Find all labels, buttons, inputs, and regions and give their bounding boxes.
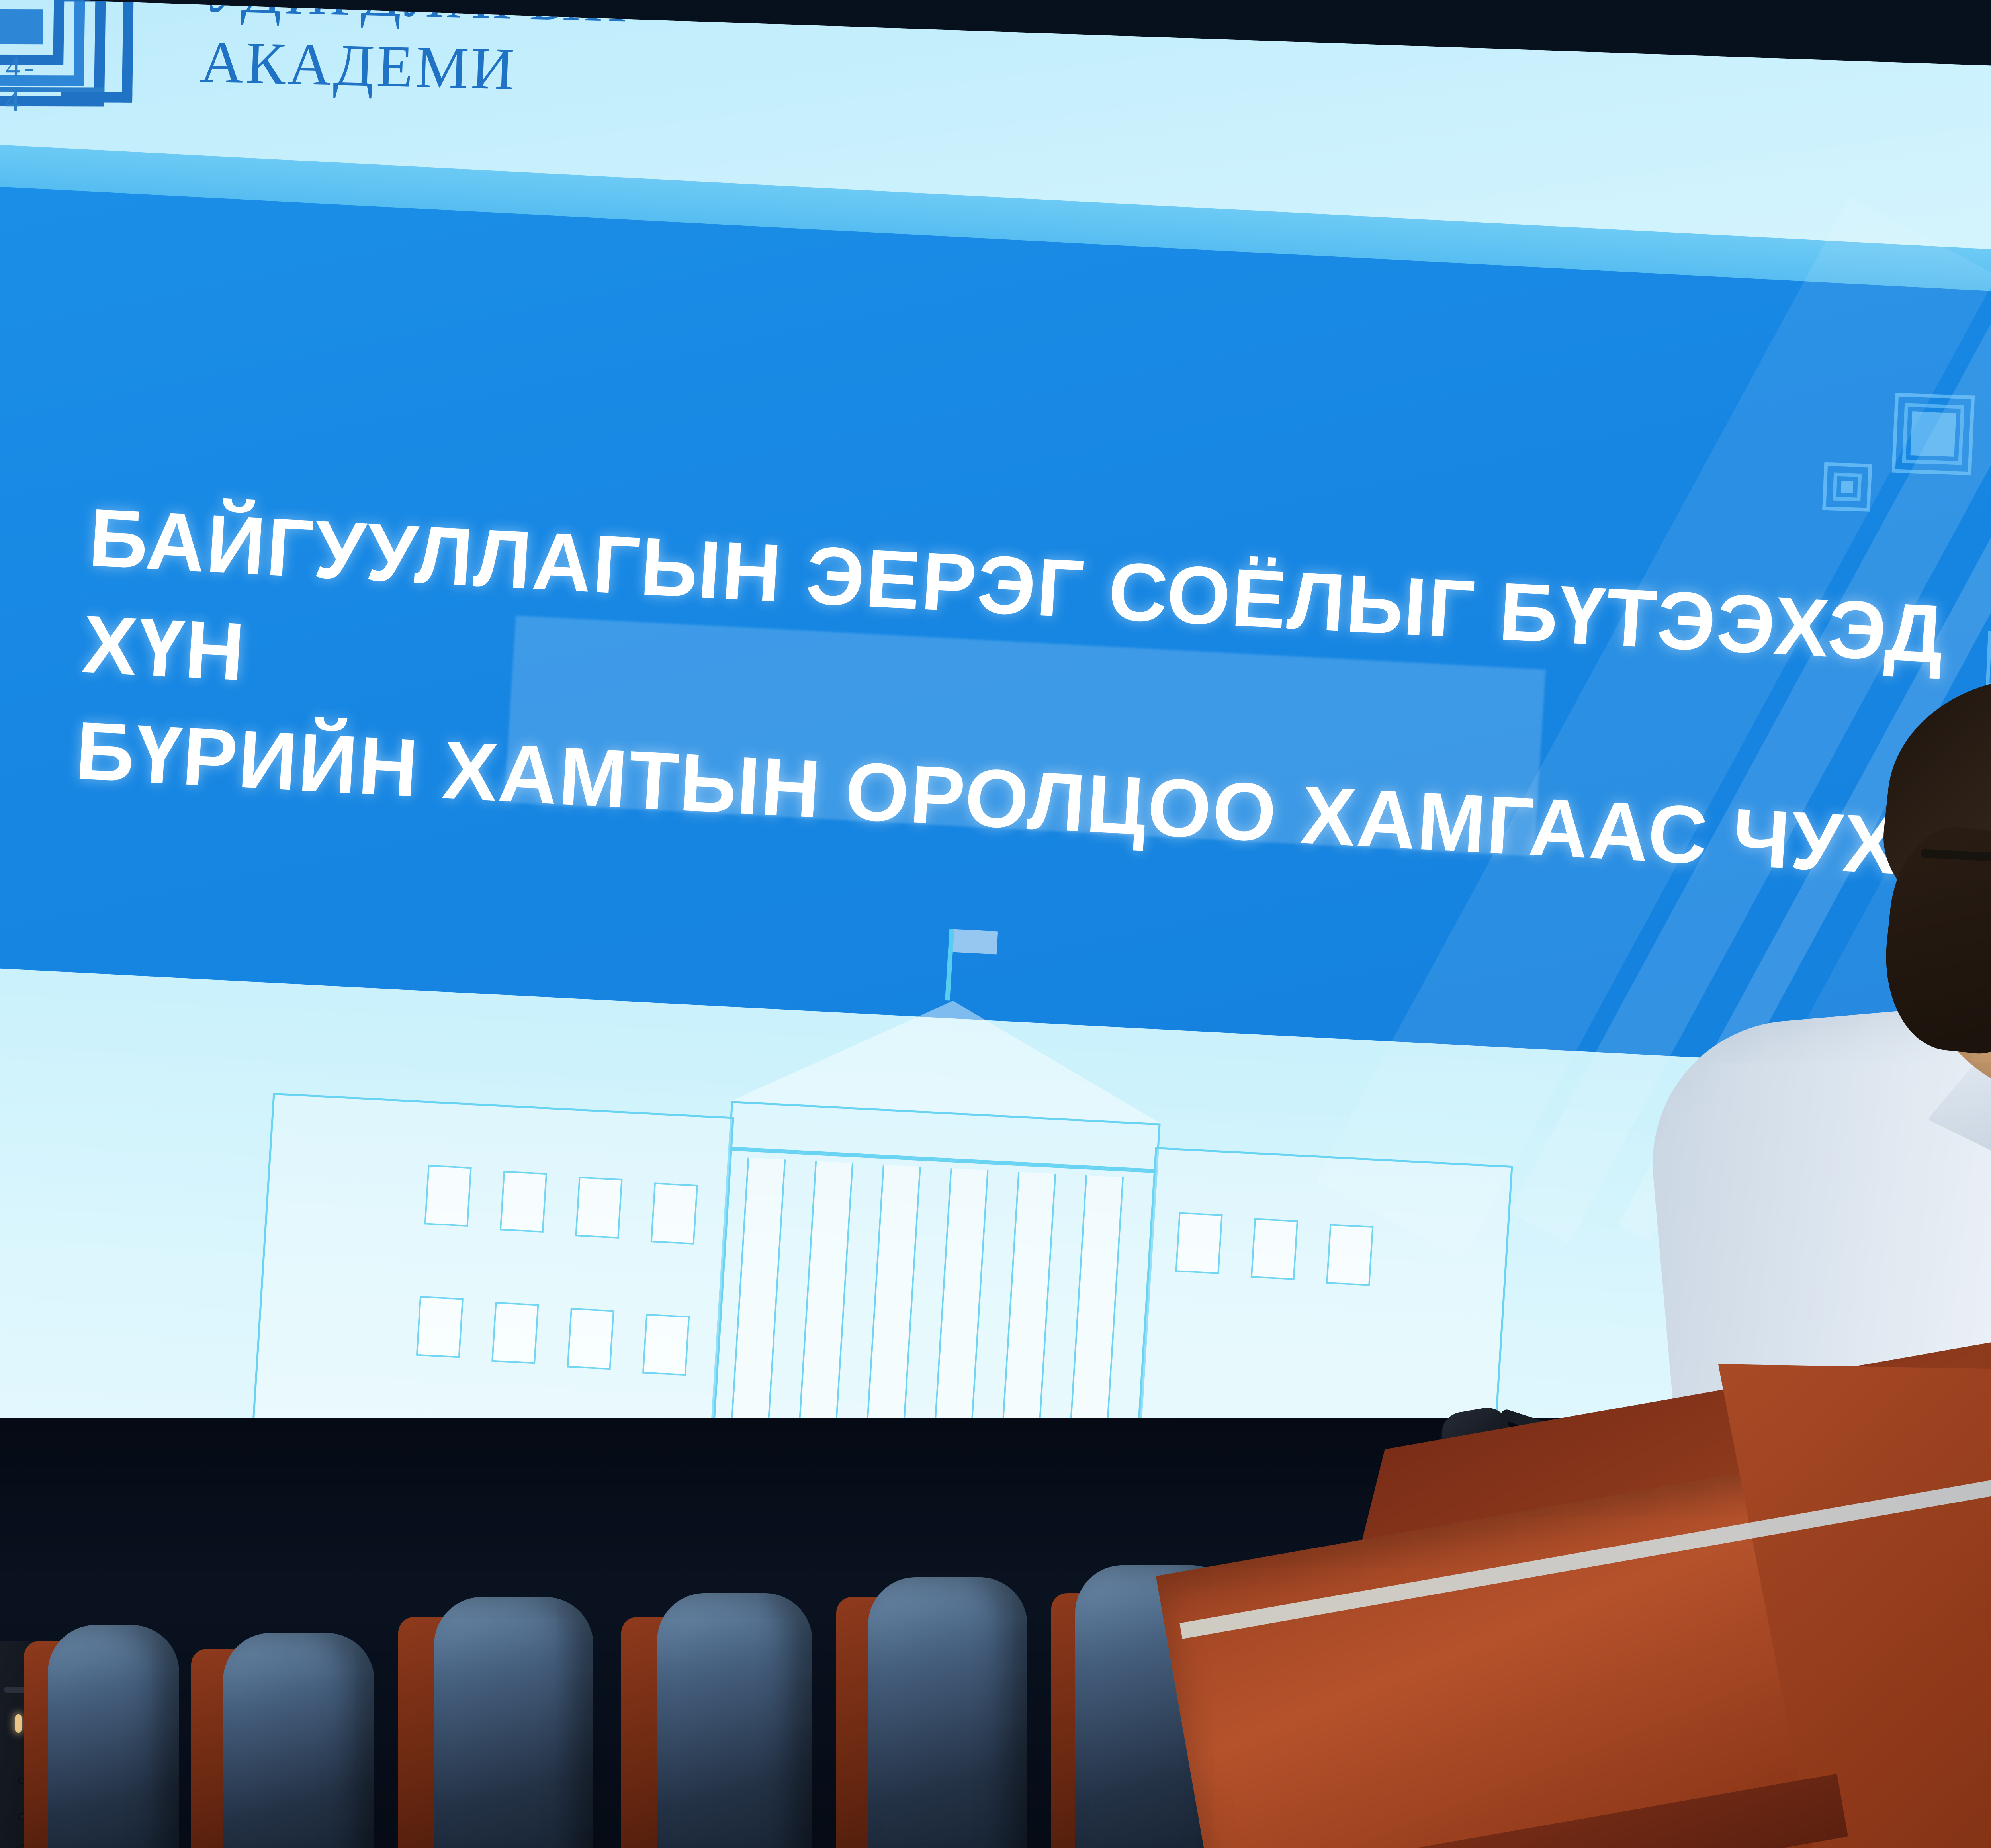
window [416,1296,464,1358]
concentric-square-motif-icon [1822,462,1872,512]
window [1251,1218,1298,1280]
window [1326,1224,1373,1286]
window [491,1302,539,1364]
auditorium-seat[interactable] [48,1625,179,1848]
window [651,1182,698,1244]
window [424,1165,471,1227]
window [642,1314,690,1376]
screenshot-root: 1924-2024 УДИРДЛАГЫН АКАДЕМИ БАЙГУУЛЛАГЫ… [0,0,1991,1848]
auditorium-seat[interactable] [434,1597,593,1848]
window [575,1177,622,1238]
logo-anniversary-years: 1924-2024 [0,51,109,119]
academy-logo-icon: 1924-2024 [0,0,147,155]
auditorium-seat[interactable] [868,1577,1027,1848]
concentric-square-motif-icon [1891,393,1975,476]
logo-rule [0,87,104,92]
flag [953,929,998,955]
window [1175,1212,1222,1274]
podium [1218,1386,1991,1848]
window [567,1308,614,1370]
window [500,1171,547,1232]
power-led-icon [15,1714,22,1732]
auditorium-seat[interactable] [223,1633,374,1848]
auditorium-seat[interactable] [657,1593,812,1848]
pediment [731,990,1168,1124]
